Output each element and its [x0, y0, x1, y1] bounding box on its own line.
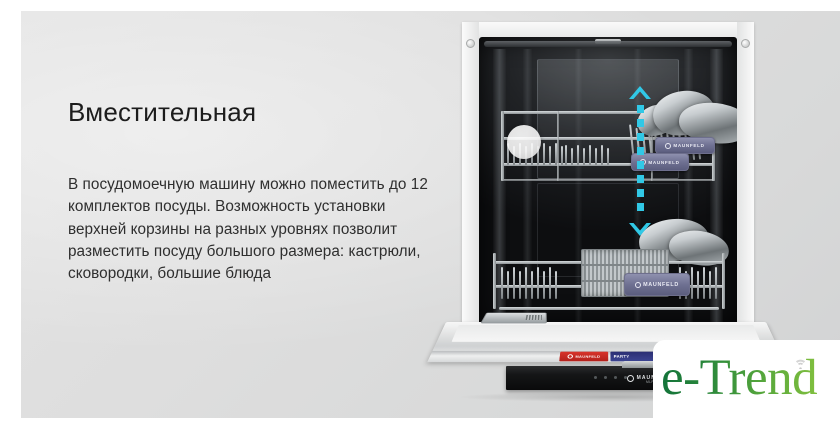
badge-label: MAUNFELD — [648, 160, 679, 165]
wifi-icon — [792, 356, 809, 369]
cabinet-top-edge — [462, 22, 754, 37]
arrow-head-down-icon — [628, 215, 652, 237]
basket-tines — [565, 143, 609, 165]
sticker-label: PARTY — [614, 354, 630, 358]
basket-rail — [499, 307, 719, 310]
small-plate — [507, 125, 541, 159]
door-rack-item — [480, 313, 546, 324]
basket-rail — [501, 179, 715, 181]
maunfeld-badge-upper: MAUNFELD — [655, 137, 715, 154]
maunfeld-mark-icon — [627, 375, 634, 382]
basket-post — [493, 253, 496, 309]
arrow-head-up-icon — [628, 85, 652, 107]
maunfeld-mark-icon — [665, 143, 671, 149]
badge-label: MAUNFELD — [643, 282, 679, 288]
tub-rim — [484, 41, 732, 47]
badge-label: MAUNFELD — [673, 143, 704, 148]
etrend-logo: e-Trend — [661, 350, 833, 406]
banner-screenshot: Вместительная В посудомоечную машину мож… — [0, 0, 840, 440]
arrow-stem — [637, 105, 644, 217]
text-column: Вместительная В посудомоечную машину мож… — [68, 96, 448, 285]
dishwasher-tub: MAUNFELD MAUNFELD — [479, 37, 737, 325]
cabinet-screw-left — [466, 39, 475, 48]
cabinet-right-panel — [737, 22, 754, 340]
description-text: В посудомоечную машину можно поместить д… — [68, 174, 440, 285]
sticker-maunfeld: MAUNFELD — [559, 352, 608, 362]
etrend-logo-card[interactable]: e-Trend — [653, 340, 840, 440]
basket-tines — [501, 265, 557, 299]
height-adjust-arrow-icon — [627, 85, 653, 237]
basket-post — [501, 111, 504, 181]
cabinet-screw-right — [741, 39, 750, 48]
cabinet-left-panel — [462, 22, 479, 340]
maunfeld-badge-lower: MAUNFELD — [624, 273, 690, 296]
basket-post — [722, 253, 725, 309]
panel-indicator-lights — [594, 376, 627, 379]
maunfeld-mark-icon — [635, 282, 641, 288]
maunfeld-mark-icon — [567, 354, 573, 358]
lower-basket — [493, 213, 725, 311]
page-title: Вместительная — [68, 96, 448, 128]
dishwasher-cabinet: MAUNFELD MAUNFELD — [462, 22, 754, 340]
sticker-label: MAUNFELD — [575, 355, 600, 358]
